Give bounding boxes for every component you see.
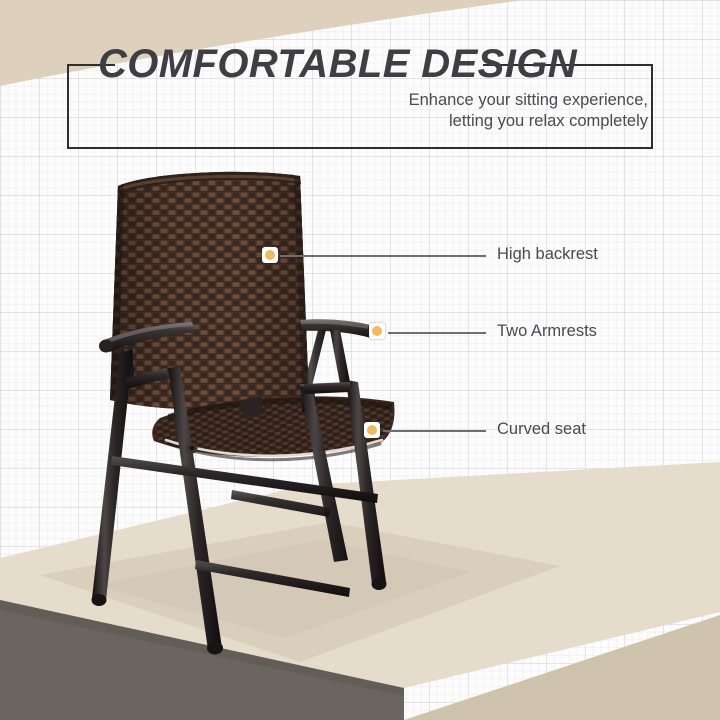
callout-dot-curved-seat (364, 422, 380, 438)
callout-leader-line (388, 332, 486, 334)
page-subtitle: Enhance your sitting experience, letting… (318, 90, 648, 132)
subtitle-line-2: letting you relax completely (318, 111, 648, 132)
subtitle-line-1: Enhance your sitting experience, (318, 90, 648, 111)
page-title: COMFORTABLE DESIGN (98, 40, 577, 88)
chair-backrest (100, 160, 330, 430)
callout-label-curved-seat: Curved seat (497, 421, 586, 437)
callout-label-two-armrests: Two Armrests (497, 323, 597, 339)
callout-label-high-backrest: High backrest (497, 246, 598, 262)
callout-leader-line (383, 430, 486, 432)
callout-dot-two-armrests (369, 323, 385, 339)
product-feature-scene: COMFORTABLE DESIGN Enhance your sitting … (0, 0, 720, 720)
callout-dot-high-backrest (262, 247, 278, 263)
callout-leader-line (280, 255, 486, 257)
